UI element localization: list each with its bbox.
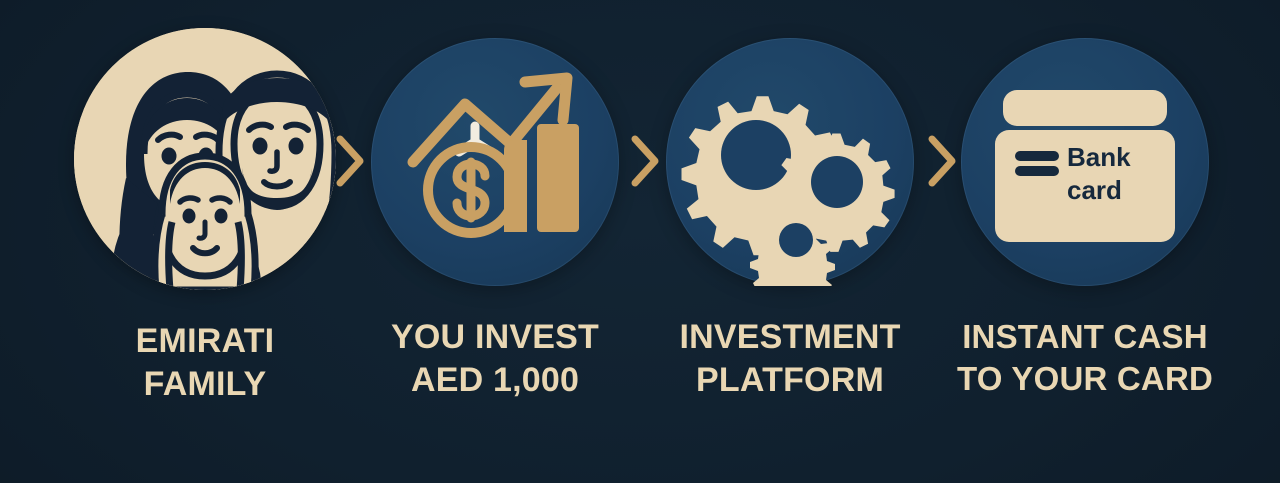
emirati-family-icon: [74, 28, 336, 290]
bank-card-text-line2: card: [1067, 175, 1122, 205]
bank-card-icon: Bank card: [961, 38, 1209, 286]
investment-growth-chart-icon: [371, 38, 619, 286]
chevron-right-icon: [628, 133, 662, 189]
step-label-emirati-family: EMIRATI FAMILY: [60, 320, 350, 406]
step-emirati-family: EMIRATI FAMILY: [60, 18, 350, 438]
step-you-invest: YOU INVEST AED 1,000: [350, 18, 640, 438]
step-investment-platform: INVESTMENT PLATFORM: [645, 18, 935, 438]
step-instant-cash: Bank card INSTANT CASH TO YOUR CARD: [940, 18, 1230, 438]
process-steps: EMIRATI FAMILY: [0, 0, 1280, 483]
step-label-instant-cash: INSTANT CASH TO YOUR CARD: [940, 316, 1230, 399]
infographic-canvas: EMIRATI FAMILY: [0, 0, 1280, 483]
chevron-right-icon: [925, 133, 959, 189]
chevron-right-icon: [333, 133, 367, 189]
step-label-you-invest: YOU INVEST AED 1,000: [350, 316, 640, 402]
gears-icon: [666, 38, 914, 286]
bank-card-text-line1: Bank: [1067, 142, 1131, 172]
step-label-investment-platform: INVESTMENT PLATFORM: [645, 316, 935, 402]
